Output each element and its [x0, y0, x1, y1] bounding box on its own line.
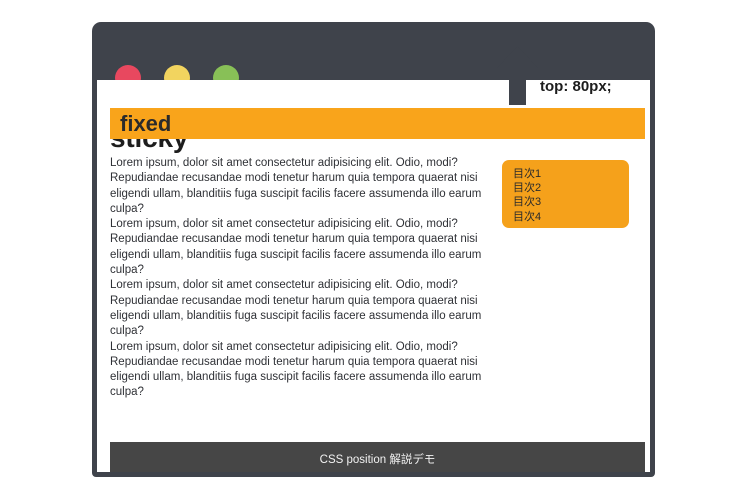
page-footer-bar: CSS position 解説デモ: [110, 442, 645, 472]
fixed-bar-label: fixed: [120, 111, 171, 136]
toc-item[interactable]: 目次3: [513, 195, 629, 209]
toc-item[interactable]: 目次1: [513, 167, 629, 181]
fixed-position-bar: fixed: [110, 108, 645, 139]
article-paragraph: Lorem ipsum, dolor sit amet consectetur …: [110, 217, 498, 278]
table-of-contents-panel: 目次1 目次2 目次3 目次4: [502, 160, 629, 228]
article-paragraph: Lorem ipsum, dolor sit amet consectetur …: [110, 340, 498, 401]
toc-item[interactable]: 目次2: [513, 181, 629, 195]
toc-item[interactable]: 目次4: [513, 210, 629, 224]
top-offset-caption: top: 80px;: [540, 78, 612, 95]
article-body: Lorem ipsum, dolor sit amet consectetur …: [110, 156, 498, 401]
window-titlebar: [92, 22, 655, 80]
footer-label: CSS position 解説デモ: [320, 451, 436, 467]
page-viewport: sticky fixed Lorem ipsum, dolor sit amet…: [97, 80, 650, 472]
browser-window: sticky fixed Lorem ipsum, dolor sit amet…: [92, 22, 655, 477]
article-paragraph: Lorem ipsum, dolor sit amet consectetur …: [110, 278, 498, 339]
article-paragraph: Lorem ipsum, dolor sit amet consectetur …: [110, 156, 498, 217]
arrow-up-icon: [496, 45, 539, 105]
